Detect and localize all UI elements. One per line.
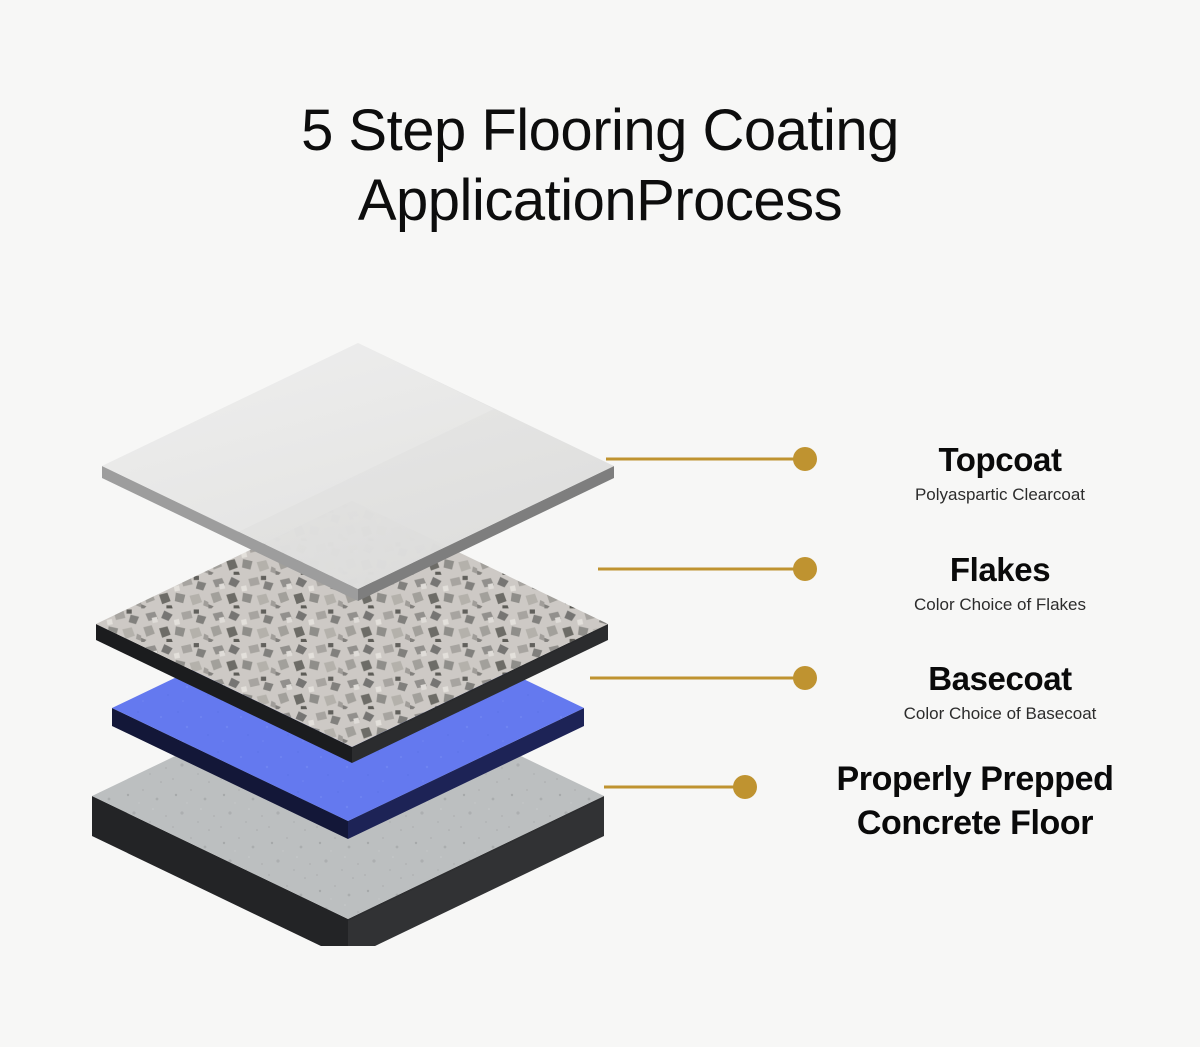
callout-title-concrete-line-1: Properly Prepped bbox=[765, 757, 1185, 801]
page-title: 5 Step Flooring Coating ApplicationProce… bbox=[0, 96, 1200, 236]
callout-title-basecoat: Basecoat bbox=[815, 659, 1185, 699]
callout-title-flakes: Flakes bbox=[815, 550, 1185, 590]
bullet-dot-concrete bbox=[733, 775, 757, 799]
callout-subtitle-topcoat: Polyaspartic Clearcoat bbox=[815, 484, 1185, 506]
exploded-layer-stack bbox=[74, 306, 644, 946]
callout-title-concrete-line-2: Concrete Floor bbox=[765, 801, 1185, 845]
bullet-dot-topcoat bbox=[793, 447, 817, 471]
callout-title-topcoat: Topcoat bbox=[815, 440, 1185, 480]
page-title-line-1: 5 Step Flooring Coating bbox=[0, 96, 1200, 166]
bullet-dot-basecoat bbox=[793, 666, 817, 690]
page-title-line-2: ApplicationProcess bbox=[0, 166, 1200, 236]
infographic-canvas: 5 Step Flooring Coating ApplicationProce… bbox=[0, 0, 1200, 1047]
callout-subtitle-flakes: Color Choice of Flakes bbox=[815, 594, 1185, 616]
layer-topcoat-geometry bbox=[102, 343, 614, 601]
callout-subtitle-basecoat: Color Choice of Basecoat bbox=[815, 703, 1185, 725]
bullet-dot-flakes bbox=[793, 557, 817, 581]
